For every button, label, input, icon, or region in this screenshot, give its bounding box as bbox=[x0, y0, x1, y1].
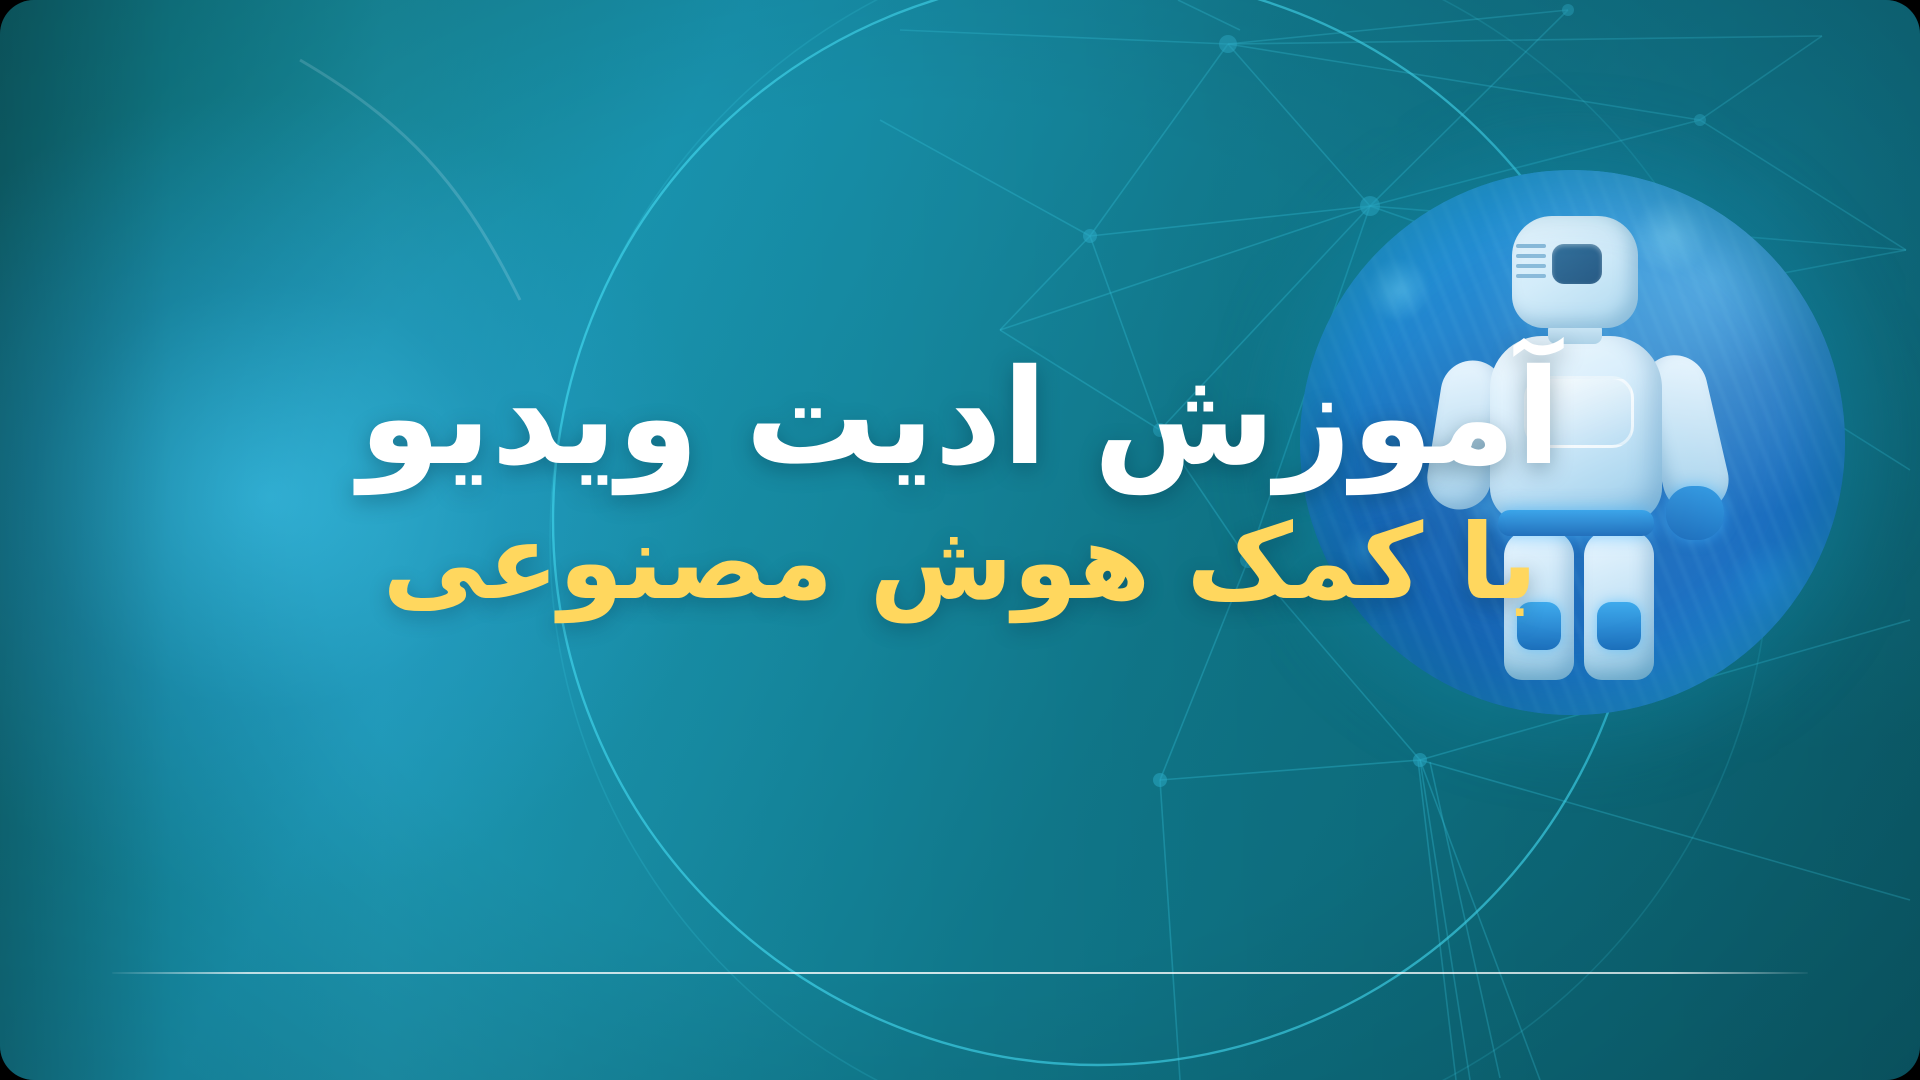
bottom-divider-line bbox=[112, 972, 1808, 974]
banner-stage: آموزش ادیت ویدیو با کمک هوش مصنوعی bbox=[0, 0, 1920, 1080]
headline-block: آموزش ادیت ویدیو با کمک هوش مصنوعی bbox=[0, 352, 1920, 614]
page-subtitle: با کمک هوش مصنوعی bbox=[0, 510, 1920, 614]
page-title: آموزش ادیت ویدیو bbox=[0, 352, 1920, 484]
